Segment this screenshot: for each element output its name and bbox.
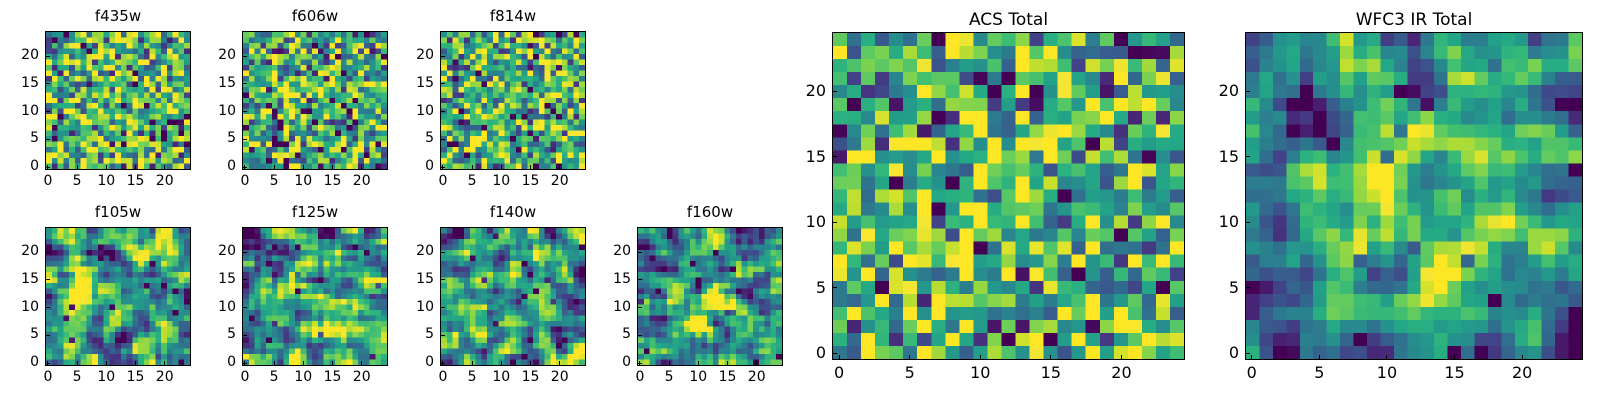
x-tick-mark — [361, 165, 362, 170]
y-tick-mark — [637, 307, 642, 308]
panel-f160w: f160w0510152005101520 — [577, 201, 783, 392]
x-tick-mark — [530, 361, 531, 366]
y-tick-label: 15 — [192, 75, 236, 91]
x-tick-mark — [472, 165, 473, 170]
y-tick-label: 5 — [0, 130, 39, 146]
heatmap-plot-area — [832, 32, 1185, 360]
x-tick-label: 20 — [145, 173, 185, 189]
heatmap-image — [1246, 33, 1582, 359]
y-tick-mark — [1245, 156, 1250, 157]
y-tick-mark — [45, 252, 50, 253]
heatmap-plot-area — [637, 227, 783, 366]
y-tick-mark — [832, 91, 837, 92]
x-tick-mark — [442, 165, 443, 170]
y-tick-label: 15 — [1195, 147, 1239, 166]
x-tick-mark — [303, 361, 304, 366]
panel-wfc3-ir-total: WFC3 IR Total0510152005101520 — [1185, 6, 1583, 386]
x-tick-mark — [274, 361, 275, 366]
y-tick-mark — [440, 111, 445, 112]
y-tick-mark — [45, 111, 50, 112]
x-tick-mark — [698, 361, 699, 366]
x-tick-mark — [332, 165, 333, 170]
x-tick-mark — [244, 361, 245, 366]
heatmap-plot-area — [440, 227, 586, 366]
y-tick-label: 5 — [390, 130, 434, 146]
y-tick-mark — [242, 111, 247, 112]
panel-f105w: f105w0510152005101520 — [0, 201, 191, 392]
heatmap-plot-area — [1245, 32, 1583, 360]
x-tick-mark — [1050, 355, 1051, 360]
y-tick-label: 20 — [587, 243, 631, 259]
x-tick-label: 20 — [1502, 363, 1542, 382]
y-tick-label: 5 — [782, 278, 826, 297]
x-tick-mark — [442, 361, 443, 366]
x-tick-mark — [303, 165, 304, 170]
x-tick-mark — [274, 165, 275, 170]
heatmap-image — [243, 228, 387, 365]
panel-f435w: f435w0510152005101520 — [0, 5, 191, 196]
panel-acs-total: ACS Total0510152005101520 — [772, 6, 1185, 386]
heatmap-image — [638, 228, 782, 365]
y-tick-label: 20 — [0, 47, 39, 63]
y-tick-label: 15 — [0, 75, 39, 91]
y-tick-mark — [637, 252, 642, 253]
x-tick-mark — [106, 361, 107, 366]
panel-title: f435w — [45, 7, 191, 25]
x-tick-mark — [1522, 355, 1523, 360]
y-tick-mark — [242, 83, 247, 84]
y-tick-mark — [637, 335, 642, 336]
x-tick-label: 20 — [737, 369, 777, 385]
y-tick-label: 10 — [192, 103, 236, 119]
y-tick-label: 5 — [0, 326, 39, 342]
y-tick-mark — [242, 139, 247, 140]
x-tick-mark — [332, 361, 333, 366]
y-tick-label: 5 — [192, 326, 236, 342]
y-tick-label: 5 — [192, 130, 236, 146]
y-tick-label: 10 — [390, 299, 434, 315]
heatmap-plot-area — [45, 227, 191, 366]
panel-title: f606w — [242, 7, 388, 25]
x-tick-label: 5 — [1299, 363, 1339, 382]
heatmap-image — [243, 32, 387, 169]
y-tick-mark — [832, 353, 837, 354]
y-tick-label: 20 — [1195, 81, 1239, 100]
y-tick-label: 0 — [587, 354, 631, 370]
panel-title: f160w — [637, 203, 783, 221]
panel-title: f105w — [45, 203, 191, 221]
y-tick-mark — [832, 287, 837, 288]
y-tick-label: 0 — [390, 158, 434, 174]
x-tick-mark — [756, 361, 757, 366]
x-tick-mark — [1454, 355, 1455, 360]
y-tick-label: 20 — [0, 243, 39, 259]
panel-title: f125w — [242, 203, 388, 221]
panel-title: WFC3 IR Total — [1245, 10, 1583, 30]
x-tick-mark — [47, 165, 48, 170]
x-tick-mark — [530, 165, 531, 170]
x-tick-mark — [1319, 355, 1320, 360]
y-tick-mark — [1245, 222, 1250, 223]
x-tick-mark — [839, 355, 840, 360]
panel-f125w: f125w0510152005101520 — [182, 201, 388, 392]
x-tick-mark — [501, 361, 502, 366]
heatmap-plot-area — [45, 31, 191, 170]
heatmap-image — [833, 33, 1184, 359]
x-tick-label: 20 — [342, 173, 382, 189]
x-tick-mark — [361, 361, 362, 366]
x-tick-mark — [164, 361, 165, 366]
y-tick-mark — [45, 139, 50, 140]
x-tick-mark — [909, 355, 910, 360]
y-tick-mark — [832, 222, 837, 223]
y-tick-label: 15 — [587, 271, 631, 287]
y-tick-mark — [45, 279, 50, 280]
panel-f606w: f606w0510152005101520 — [182, 5, 388, 196]
x-tick-label: 10 — [1367, 363, 1407, 382]
y-tick-label: 15 — [0, 271, 39, 287]
x-tick-mark — [669, 361, 670, 366]
y-tick-label: 10 — [1195, 212, 1239, 231]
x-tick-mark — [472, 361, 473, 366]
x-tick-label: 20 — [145, 369, 185, 385]
panel-title: f814w — [440, 7, 586, 25]
x-tick-mark — [727, 361, 728, 366]
y-tick-mark — [45, 307, 50, 308]
y-tick-label: 20 — [782, 81, 826, 100]
y-tick-label: 0 — [782, 343, 826, 362]
y-tick-label: 5 — [587, 326, 631, 342]
y-tick-mark — [242, 56, 247, 57]
y-tick-label: 15 — [390, 271, 434, 287]
x-tick-label: 5 — [890, 363, 930, 382]
y-tick-label: 20 — [192, 47, 236, 63]
y-tick-label: 0 — [0, 158, 39, 174]
y-tick-label: 15 — [192, 271, 236, 287]
x-tick-label: 20 — [540, 369, 580, 385]
x-tick-mark — [1121, 355, 1122, 360]
y-tick-label: 0 — [0, 354, 39, 370]
heatmap-plot-area — [242, 31, 388, 170]
y-tick-label: 10 — [192, 299, 236, 315]
y-tick-mark — [45, 83, 50, 84]
y-tick-mark — [440, 335, 445, 336]
y-tick-label: 5 — [1195, 278, 1239, 297]
y-tick-mark — [440, 56, 445, 57]
y-tick-label: 20 — [192, 243, 236, 259]
y-tick-mark — [440, 252, 445, 253]
x-tick-mark — [501, 165, 502, 170]
x-tick-mark — [106, 165, 107, 170]
y-tick-label: 0 — [192, 158, 236, 174]
y-tick-label: 10 — [0, 299, 39, 315]
y-tick-label: 10 — [587, 299, 631, 315]
y-tick-label: 0 — [192, 354, 236, 370]
y-tick-label: 10 — [0, 103, 39, 119]
x-tick-label: 20 — [342, 369, 382, 385]
x-tick-mark — [77, 361, 78, 366]
y-tick-mark — [637, 279, 642, 280]
panel-f814w: f814w0510152005101520 — [380, 5, 586, 196]
y-tick-label: 20 — [390, 243, 434, 259]
y-tick-mark — [242, 307, 247, 308]
heatmap-image — [46, 32, 190, 169]
x-tick-mark — [559, 165, 560, 170]
y-tick-mark — [45, 335, 50, 336]
y-tick-label: 10 — [782, 212, 826, 231]
y-tick-label: 15 — [782, 147, 826, 166]
y-tick-mark — [832, 156, 837, 157]
x-tick-label: 0 — [1232, 363, 1272, 382]
y-tick-mark — [1245, 91, 1250, 92]
y-tick-mark — [45, 56, 50, 57]
heatmap-plot-area — [242, 227, 388, 366]
x-tick-label: 0 — [819, 363, 859, 382]
panel-f140w: f140w0510152005101520 — [380, 201, 586, 392]
x-tick-label: 20 — [1101, 363, 1141, 382]
panel-title: ACS Total — [832, 10, 1185, 30]
x-tick-mark — [77, 165, 78, 170]
y-tick-label: 15 — [390, 75, 434, 91]
x-tick-mark — [980, 355, 981, 360]
y-tick-mark — [242, 252, 247, 253]
x-tick-mark — [1386, 355, 1387, 360]
x-tick-mark — [244, 165, 245, 170]
x-tick-mark — [135, 361, 136, 366]
x-tick-mark — [1251, 355, 1252, 360]
y-tick-mark — [440, 139, 445, 140]
heatmap-image — [441, 32, 585, 169]
x-tick-label: 20 — [540, 173, 580, 189]
heatmap-image — [441, 228, 585, 365]
heatmap-plot-area — [440, 31, 586, 170]
y-tick-label: 20 — [390, 47, 434, 63]
y-tick-mark — [440, 279, 445, 280]
y-tick-mark — [242, 335, 247, 336]
x-tick-mark — [639, 361, 640, 366]
y-tick-label: 5 — [390, 326, 434, 342]
y-tick-mark — [242, 279, 247, 280]
y-tick-label: 0 — [1195, 343, 1239, 362]
x-tick-mark — [559, 361, 560, 366]
x-tick-mark — [47, 361, 48, 366]
x-tick-label: 15 — [1435, 363, 1475, 382]
x-tick-label: 10 — [960, 363, 1000, 382]
y-tick-label: 0 — [390, 354, 434, 370]
x-tick-label: 15 — [1031, 363, 1071, 382]
y-tick-label: 10 — [390, 103, 434, 119]
x-tick-mark — [135, 165, 136, 170]
y-tick-mark — [1245, 353, 1250, 354]
panel-title: f140w — [440, 203, 586, 221]
y-tick-mark — [1245, 287, 1250, 288]
y-tick-mark — [440, 83, 445, 84]
y-tick-mark — [440, 307, 445, 308]
heatmap-image — [46, 228, 190, 365]
x-tick-mark — [164, 165, 165, 170]
